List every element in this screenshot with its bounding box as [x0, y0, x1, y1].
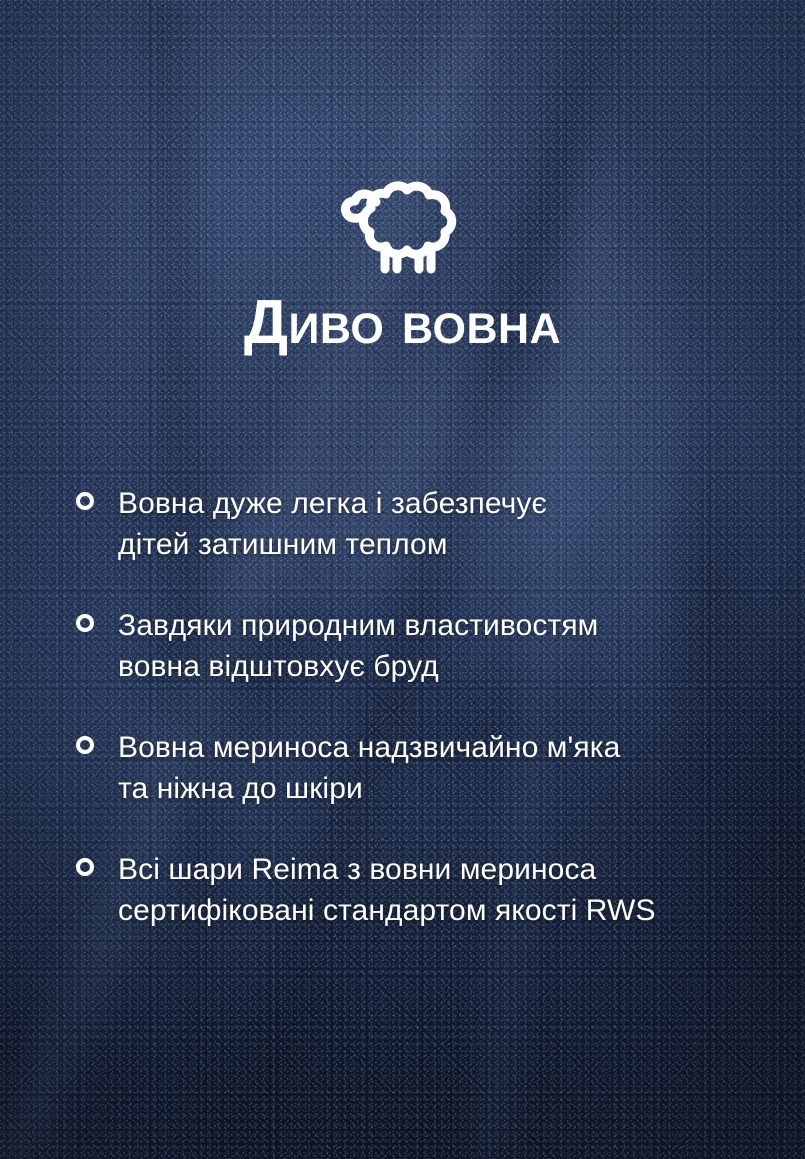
feature-text: Всі шари Reima з вовни мериноса сертифік… — [118, 849, 765, 931]
list-item: Завдяки природним властивостям вовна від… — [74, 605, 765, 687]
list-item: Вовна дуже легка і забезпечує дітей зати… — [74, 483, 765, 565]
ring-bullet-icon — [76, 858, 94, 876]
feature-list: Вовна дуже легка і забезпечує дітей зати… — [74, 483, 765, 931]
poster-content: Диво вовна Вовна дуже легка і забезпечує… — [0, 0, 805, 1159]
list-item: Вовна мериноса надзвичайно м'яка та ніжн… — [74, 727, 765, 809]
list-item: Всі шари Reima з вовни мериноса сертифік… — [74, 849, 765, 931]
ring-bullet-icon — [76, 492, 94, 510]
page-title: Диво вовна — [0, 292, 805, 354]
feature-text: Вовна дуже легка і забезпечує дітей зати… — [118, 483, 765, 565]
ring-bullet-icon — [76, 614, 94, 632]
sheep-icon — [333, 168, 473, 278]
feature-text: Вовна мериноса надзвичайно м'яка та ніжн… — [118, 727, 765, 809]
feature-text: Завдяки природним властивостям вовна від… — [118, 605, 765, 687]
wool-feature-poster: Диво вовна Вовна дуже легка і забезпечує… — [0, 0, 805, 1159]
hero-block: Диво вовна — [0, 168, 805, 354]
ring-bullet-icon — [76, 736, 94, 754]
